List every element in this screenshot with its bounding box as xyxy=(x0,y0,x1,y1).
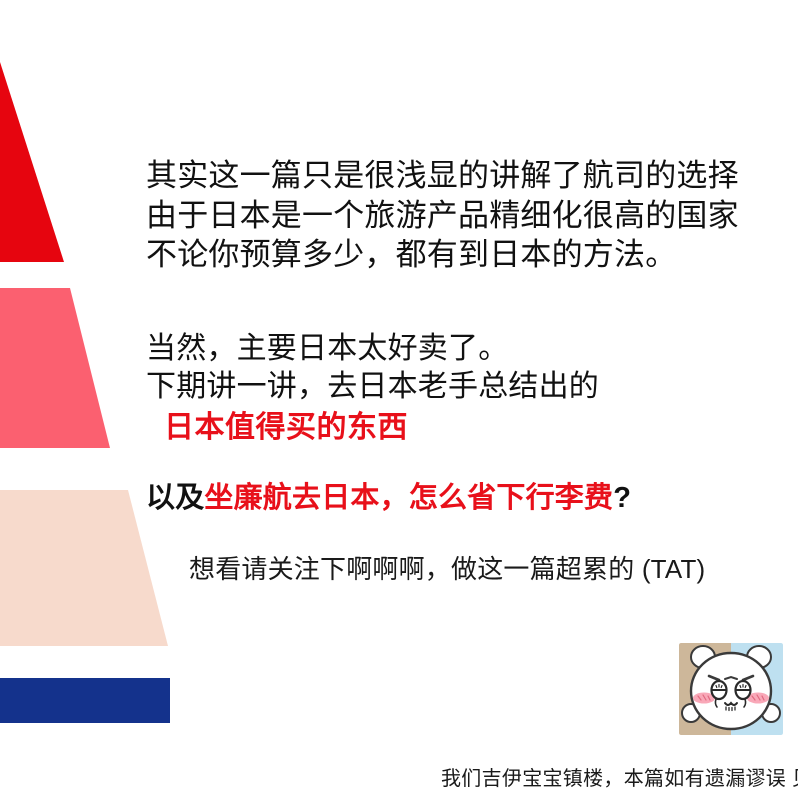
second-paragraph: 当然，主要日本太好卖了。 下期讲一讲，去日本老手总结出的 日本值得买的东西 xyxy=(146,330,599,447)
intro-line-1: 其实这一篇只是很浅显的讲解了航司的选择 xyxy=(146,156,739,196)
intro-line-2: 由于日本是一个旅游产品精细化很高的国家 xyxy=(146,196,739,236)
intro-paragraph: 其实这一篇只是很浅显的讲解了航司的选择 由于日本是一个旅游产品精细化很高的国家 … xyxy=(146,156,739,275)
question-line: 以及坐廉航去日本，怎么省下行李费? xyxy=(146,480,631,517)
second-line-2: 下期讲一讲，去日本老手总结出的 xyxy=(146,368,599,406)
chiikawa-crying-icon xyxy=(679,643,783,735)
slide-canvas: 其实这一篇只是很浅显的讲解了航司的选择 由于日本是一个旅游产品精细化很高的国家 … xyxy=(0,0,798,800)
mascot-sticker xyxy=(679,643,783,735)
next-topic-highlight: 日本值得买的东西 xyxy=(146,409,599,447)
follow-request-note: 想看请关注下啊啊啊，做这一篇超累的 (TAT) xyxy=(189,553,705,586)
second-line-1: 当然，主要日本太好卖了。 xyxy=(146,330,599,368)
question-suffix: ? xyxy=(613,482,631,514)
question-prefix: 以及 xyxy=(146,482,204,514)
intro-line-3: 不论你预算多少，都有到日本的方法。 xyxy=(146,235,739,275)
bottom-caption: 我们吉伊宝宝镇楼，本篇如有遗漏谬误 见谅 xyxy=(441,762,798,791)
question-emphasis: 坐廉航去日本，怎么省下行李费 xyxy=(204,482,613,514)
